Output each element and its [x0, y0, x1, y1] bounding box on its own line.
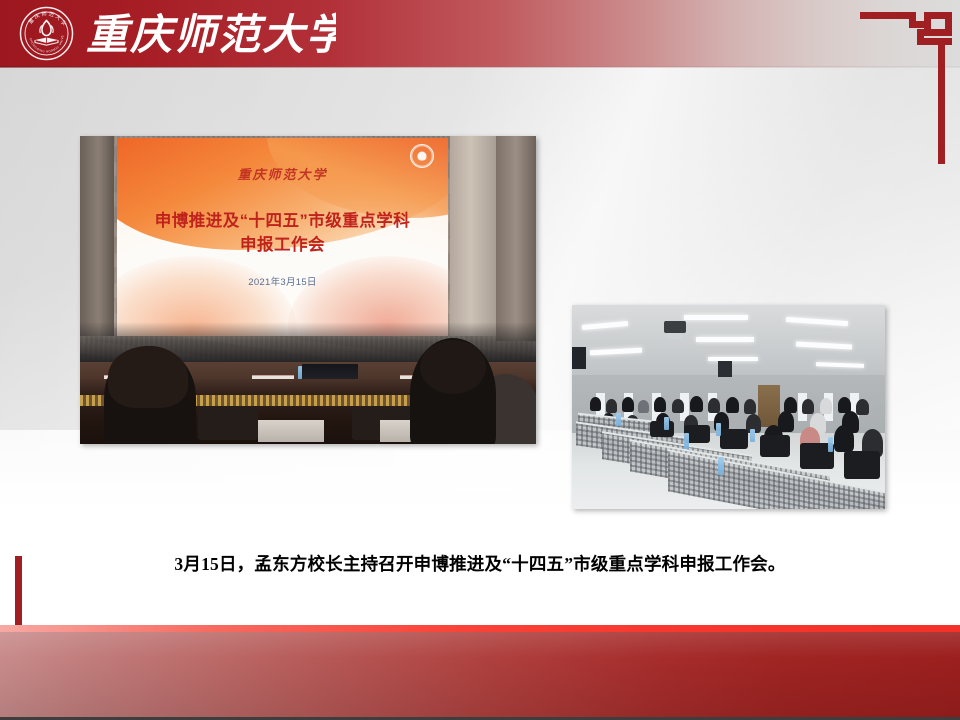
screen-title-line2: 申报工作会 — [133, 234, 432, 258]
attendee — [638, 400, 649, 413]
attendee — [622, 397, 634, 412]
attendee — [856, 399, 869, 415]
footer-band-shading — [0, 632, 960, 720]
attendee — [802, 399, 814, 414]
lecture-chair — [650, 421, 674, 437]
university-wordmark: 重庆师范大学 重庆师范大学 — [86, 5, 336, 63]
conference-presidium-photo: 重庆师范大学 申博推进及“十四五”市级重点学科 申报工作会 2021年3月15日 — [80, 136, 536, 444]
slide-caption: 3月15日，孟东方校长主持召开申博推进及“十四五”市级重点学科申报工作会。 — [0, 551, 960, 576]
photo-pillar-left — [80, 136, 114, 336]
water-bottle — [750, 429, 755, 442]
screen-brand-text: 重庆师范大学 — [117, 164, 448, 183]
water-bottle — [616, 413, 621, 426]
attendee — [672, 399, 684, 413]
water-bottle — [684, 433, 689, 449]
lecture-hall-door — [758, 385, 780, 427]
screen-date: 2021年3月15日 — [117, 274, 448, 288]
lecture-chair — [720, 429, 748, 449]
photo-pillar-middle — [450, 136, 502, 336]
lecture-hall-audience-photo — [572, 305, 885, 509]
photo-pillar-right — [496, 136, 536, 341]
presentation-slide: 重庆师范大学 CHONGQING NORMAL UNIVERSITY 重庆师范大… — [0, 0, 960, 720]
water-bottle — [828, 437, 833, 452]
audience-silhouette — [410, 338, 496, 444]
water-bottle — [718, 457, 724, 475]
water-bottle — [664, 417, 669, 430]
attendee — [590, 397, 601, 411]
ceiling-light — [708, 357, 758, 361]
chinese-lattice-corner-icon-top-right — [860, 4, 960, 164]
wall-speaker — [718, 361, 732, 377]
attendee — [654, 397, 666, 412]
audience-desk — [258, 420, 324, 442]
screen-title: 申博推进及“十四五”市级重点学科 申报工作会 — [133, 210, 432, 258]
lecture-chair — [844, 451, 880, 479]
footer-accent-line — [0, 625, 960, 632]
audience-silhouette — [104, 346, 196, 444]
wall-monitor — [572, 347, 586, 369]
university-seal-icon: 重庆师范大学 CHONGQING NORMAL UNIVERSITY — [19, 6, 74, 61]
projection-screen: 重庆师范大学 申博推进及“十四五”市级重点学科 申报工作会 2021年3月15日 — [117, 138, 448, 336]
attendee — [726, 397, 739, 413]
water-bottle — [716, 423, 721, 436]
svg-text:重庆师范大学: 重庆师范大学 — [86, 12, 336, 59]
attendee — [744, 399, 756, 414]
audience-chair — [198, 406, 258, 440]
header-divider-rule — [0, 66, 960, 68]
lecture-chair — [760, 435, 790, 457]
attendee — [834, 425, 854, 452]
attendee — [708, 398, 720, 413]
ceiling-light — [696, 337, 754, 342]
ceiling-projector — [664, 321, 686, 333]
attendee — [690, 396, 703, 412]
ceiling-light — [684, 315, 748, 320]
screen-title-line1: 申博推进及“十四五”市级重点学科 — [133, 210, 432, 234]
attendee — [606, 399, 617, 413]
attendee — [820, 398, 832, 414]
